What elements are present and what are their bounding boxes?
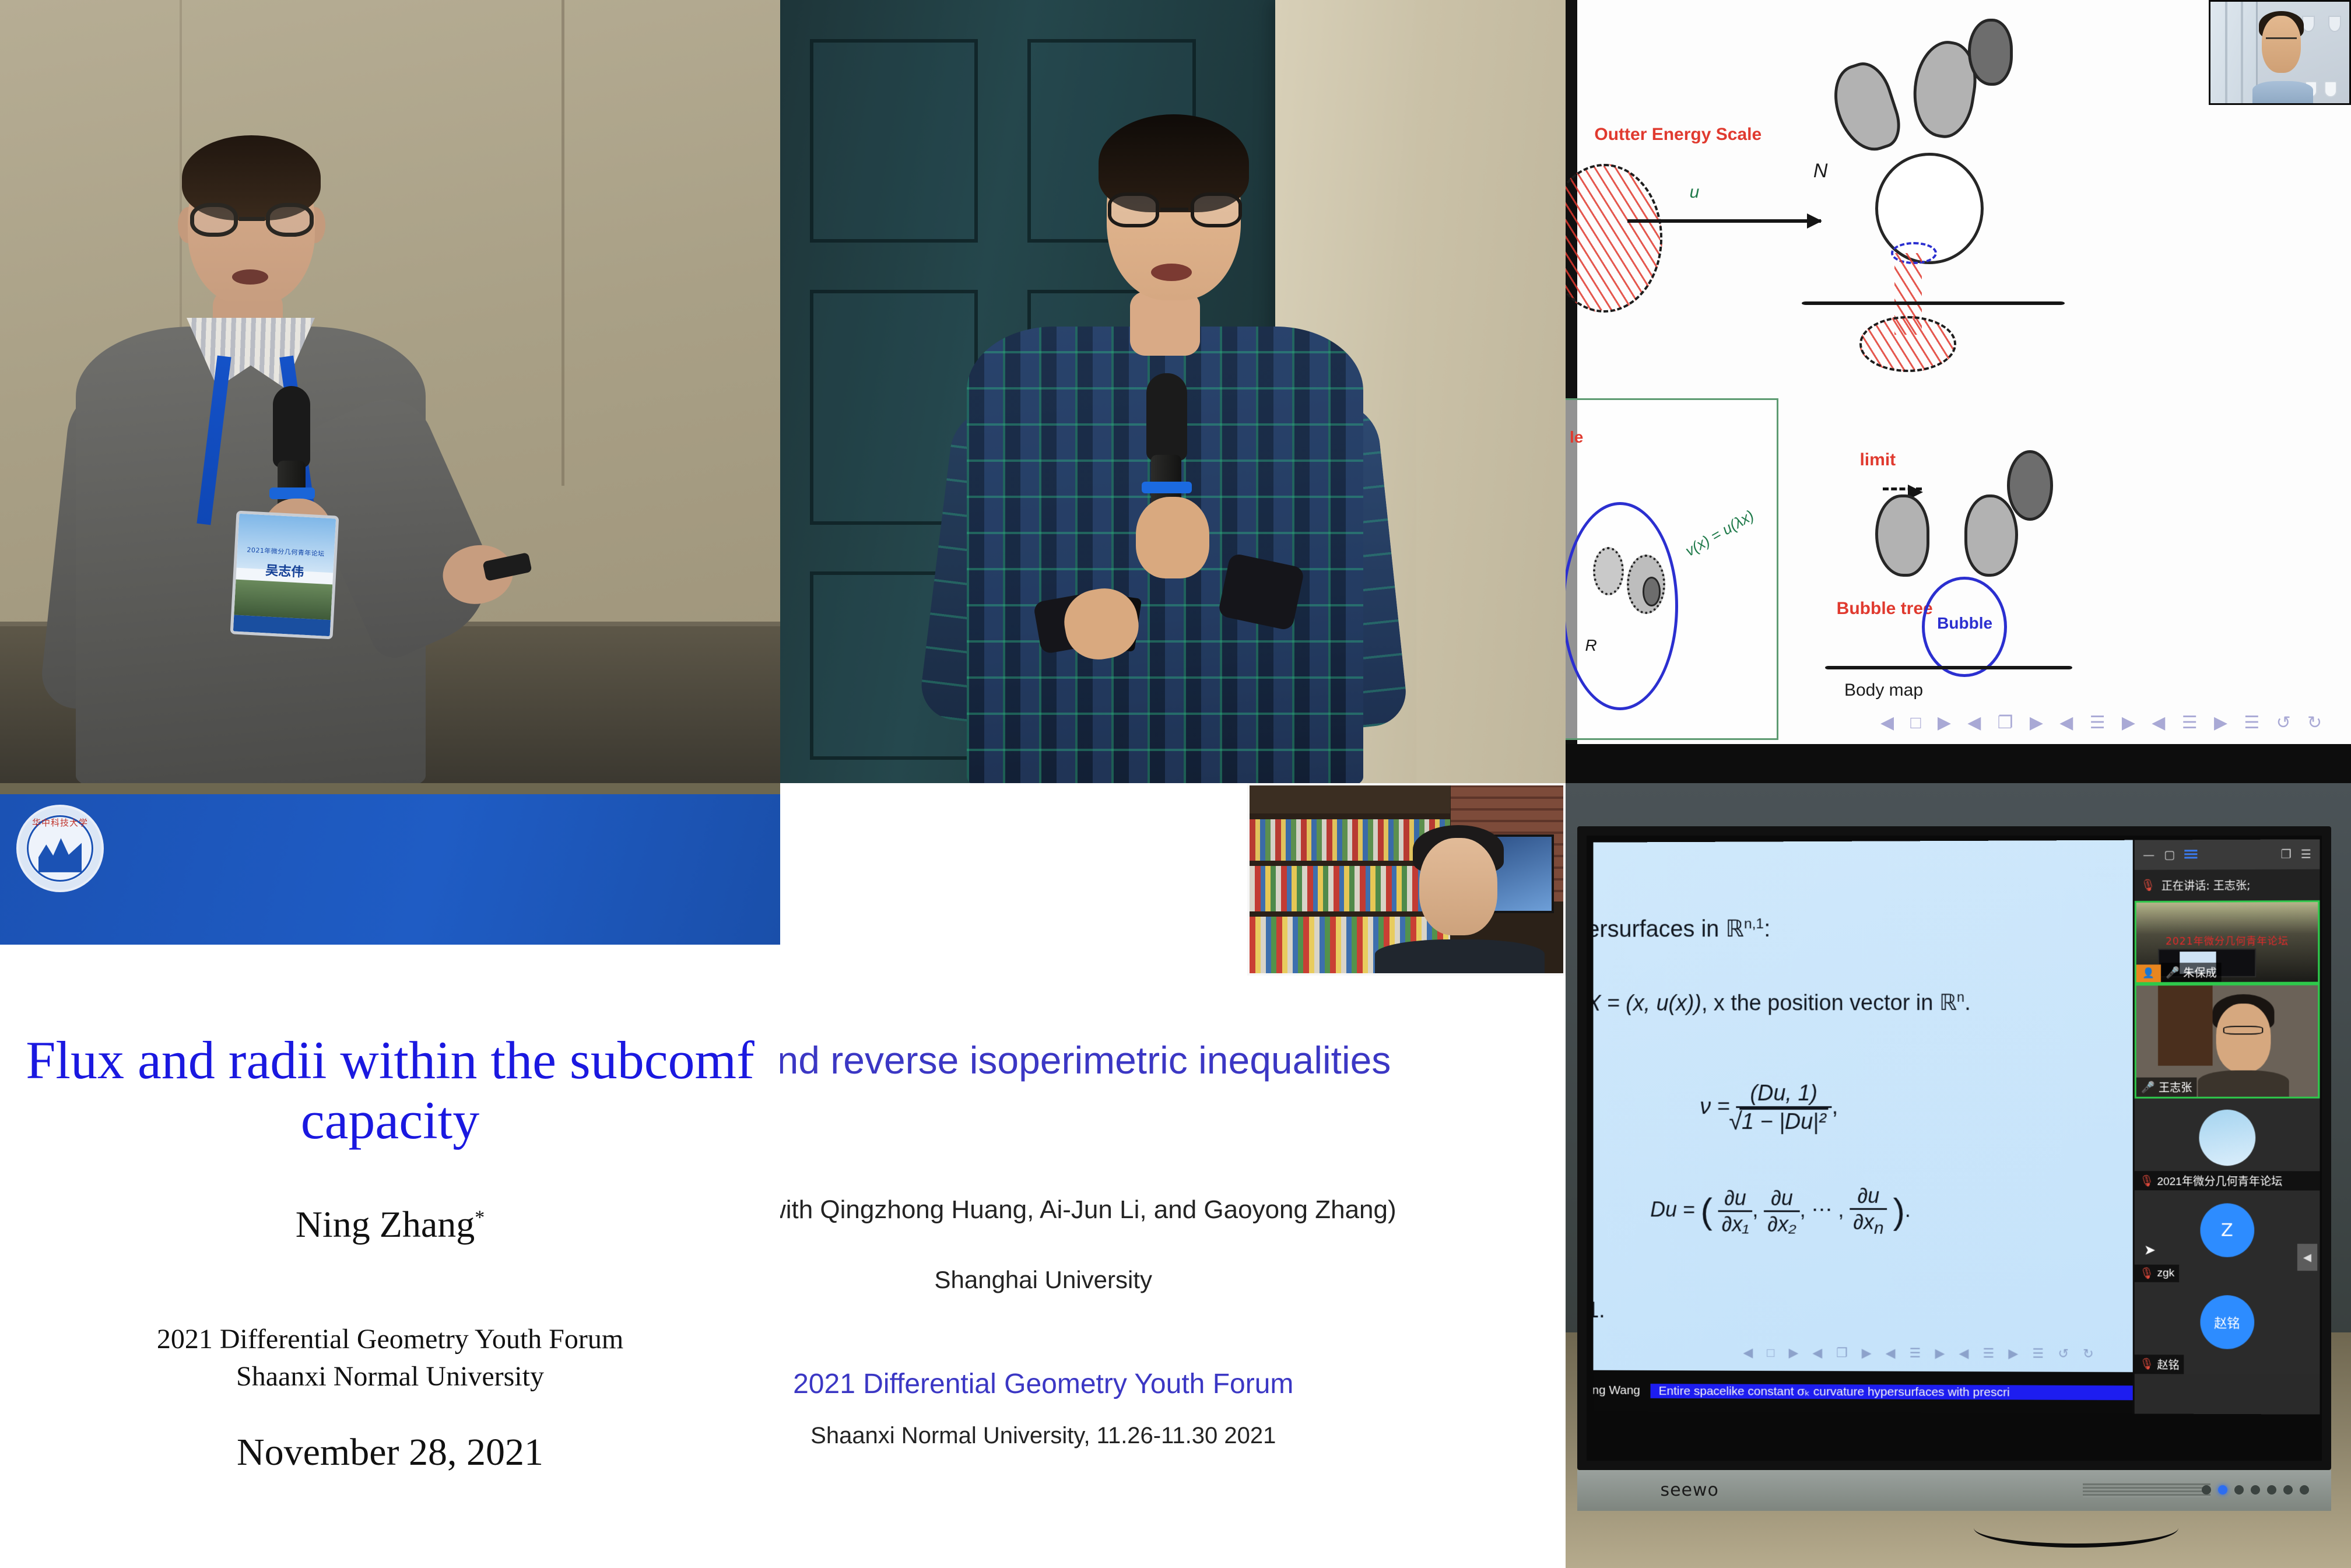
- beamer-line2-superscript: n: [1957, 990, 1964, 1005]
- slide-canvas: Outter Energy Scale u N limit Bubble tre…: [1577, 0, 2351, 744]
- zoom-tile-name: 🎙 zgk: [2135, 1264, 2179, 1282]
- limit-arrow: [1883, 487, 1921, 490]
- beamer-line2-period: .: [1964, 990, 1971, 1015]
- gallery-view-icon[interactable]: [2184, 850, 2197, 859]
- formula-nu-numerator: (Du, 1): [1736, 1081, 1832, 1106]
- scale-label: le: [1570, 428, 1583, 447]
- microphone-icon: 🎤: [2141, 1081, 2155, 1094]
- collapse-sidebar-button[interactable]: ◀: [2297, 1244, 2317, 1271]
- zoom-tile-initial-zgk[interactable]: ➤ Z 🎙 zgk ◀: [2135, 1190, 2320, 1282]
- beamer-footer-title: Entire spacelike constant σₖ curvature h…: [1651, 1383, 2137, 1399]
- display-cable: [1974, 1509, 2178, 1548]
- maximize-icon[interactable]: ▢: [2164, 847, 2175, 861]
- zoom-tile-name: 🎤 王志张: [2136, 1077, 2196, 1096]
- wall-seam: [562, 0, 564, 486]
- formula-normal-vector: ν = (Du, 1) 1 − |Du|² ,: [1700, 1081, 1838, 1135]
- beamer-slide: ic hypersurfaces in ℝn,1: vector X = (x,…: [1593, 840, 2136, 1413]
- avatar: [2199, 1109, 2255, 1165]
- screen-top-edge: [0, 783, 780, 794]
- muted-microphone-icon: 🎙: [2141, 878, 2156, 892]
- zoom-tile-name: 🎤 朱保成: [2161, 963, 2221, 982]
- slide-title-line2: capacity: [301, 1090, 479, 1150]
- slide-venue-forum: 2021 Differential Geometry Youth Forum: [157, 1324, 623, 1355]
- slide-title: ids and reverse isoperimetric inequaliti…: [780, 1038, 1566, 1082]
- avatar-initial: 赵铭: [2200, 1295, 2254, 1349]
- photo-seewo-display-with-zoom: ic hypersurfaces in ℝn,1: vector X = (x,…: [1566, 783, 2351, 1568]
- conference-badge: 2021年微分几何青年论坛 吴志伟 中山大学: [230, 511, 339, 640]
- inner-scale-disc: [1593, 547, 1624, 595]
- display-control-buttons[interactable]: [2202, 1485, 2309, 1495]
- photo-speaker-dark-door: [780, 0, 1566, 783]
- slide-venue: 2021 Differential Geometry Youth Forum S…: [0, 1321, 780, 1396]
- beamer-footer-author: Zhizhang Wang: [1593, 1383, 1650, 1398]
- zoom-tile-hall-banner: 2021年微分几何青年论坛: [2136, 932, 2318, 947]
- body-map-label: Body map: [1844, 680, 1923, 700]
- formula-nu-lhs: ν =: [1700, 1095, 1729, 1119]
- zoom-tile-lecture-hall[interactable]: 2021年微分几何青年论坛 👤 🎤 朱保成: [2135, 900, 2320, 984]
- slide-forum-venue-dates: Shaanxi Normal University, 11.26-11.30 2…: [780, 1423, 1566, 1449]
- menu-icon[interactable]: ☰: [2301, 847, 2311, 861]
- speaker-neck: [1130, 292, 1200, 356]
- formula-inner-product: , ν⟩ = −1.: [1593, 1297, 1605, 1323]
- slide-flux-and-radii-title: 华中科技大学 Flux and radii within the subcomf…: [0, 783, 780, 1568]
- slide-banner: 华中科技大学: [0, 794, 780, 945]
- target-N-label: N: [1813, 160, 1828, 183]
- body-map-curve: [1825, 666, 2073, 669]
- map-u-label: u: [1690, 183, 1700, 202]
- zoom-participant-name: 赵铭: [2157, 1356, 2179, 1372]
- speaker-mouth: [232, 269, 268, 285]
- radius-label: R: [1585, 636, 1596, 655]
- outer-energy-scale-label: Outter Energy Scale: [1594, 125, 1762, 145]
- bubble-blob: [1964, 494, 2019, 576]
- outer-energy-region: [1566, 164, 1662, 313]
- beamer-nav-icons[interactable]: ◀ □ ▶ ◀ ❐ ▶ ◀ ☰ ▶ ◀ ☰ ▶ ☰ ↺ ↻: [1880, 713, 2328, 733]
- slide-author: Ning Zhang*: [0, 1203, 780, 1246]
- slide-date: November 28, 2021: [0, 1430, 780, 1475]
- formula-du-lhs: Du =: [1650, 1197, 1694, 1221]
- zoom-participants-sidebar[interactable]: — ▢ ❐ ☰ 🎙 正在讲话: 王志张; 2021年微分几何青年论坛: [2133, 839, 2320, 1414]
- body-map-curve: [1802, 301, 2065, 305]
- microphone-head: [273, 386, 310, 468]
- zoom-participant-name: 朱保成: [2183, 964, 2216, 980]
- slide-venue-university: Shaanxi Normal University: [236, 1361, 544, 1392]
- screen-bottom-edge: [1566, 744, 2351, 783]
- zoom-participant-name: 2021年微分几何青年论坛: [2157, 1173, 2282, 1188]
- beamer-text-line-1: ic hypersurfaces in ℝn,1:: [1593, 915, 1770, 943]
- muted-microphone-icon: 🎙: [2139, 1173, 2153, 1187]
- domain-ellipse: [1566, 502, 1678, 710]
- display-screen: ic hypersurfaces in ℝn,1: vector X = (x,…: [1593, 839, 2320, 1414]
- speaker-glasses: [1104, 192, 1245, 230]
- wall-pillar: [1416, 0, 1566, 783]
- zoom-active-speaker-badge: 👤: [2136, 964, 2161, 982]
- bubble-blob-dark: [2007, 450, 2054, 521]
- seewo-bezel-bottom: seewo: [1577, 1470, 2331, 1511]
- muted-microphone-icon: 🎙: [2139, 1357, 2153, 1371]
- muted-microphone-icon: 🎙: [2139, 1266, 2153, 1280]
- mouse-cursor-icon: ➤: [2144, 1241, 2156, 1258]
- slide-title: Flux and radii within the subcomf capaci…: [0, 1030, 780, 1150]
- zoom-active-speaker-bar: 🎙 正在讲话: 王志张;: [2135, 869, 2320, 900]
- speaker-glasses: [185, 203, 318, 239]
- bubble-blob: [1875, 494, 1929, 576]
- zoom-tile-active-speaker[interactable]: 🎤 王志张: [2135, 983, 2320, 1098]
- slide-organization: Shanghai University: [780, 1266, 1566, 1294]
- seewo-interactive-display: ic hypersurfaces in ℝn,1: vector X = (x,…: [1577, 826, 2331, 1470]
- slide-author-name: Ning Zhang: [296, 1204, 475, 1245]
- hust-university-logo-icon: 华中科技大学: [16, 805, 104, 892]
- hust-logo-chinese-text: 华中科技大学: [19, 816, 101, 829]
- beamer-line2-suffix: , x the position vector in ℝ: [1701, 991, 1957, 1016]
- microphone-icon: 🎤: [2166, 966, 2180, 979]
- shared-screen-bubble-tree-slide: Outter Energy Scale u N limit Bubble tre…: [1566, 0, 2351, 783]
- author-footnote-marker: *: [475, 1207, 485, 1229]
- photo-collage: 2021年微分几何青年论坛 吴志伟 中山大学: [0, 0, 2351, 1568]
- beamer-footer: Zhizhang Wang Entire spacelike constant …: [1593, 1370, 2136, 1413]
- slide-reverse-isoperimetric-title: ids and reverse isoperimetric inequaliti…: [780, 783, 1566, 1568]
- beamer-line1-colon: :: [1764, 916, 1770, 942]
- limit-label: limit: [1859, 450, 1896, 470]
- popout-icon[interactable]: ❐: [2280, 847, 2291, 861]
- speaker-mouth: [1151, 264, 1192, 281]
- zoom-tile-name: 🎙 2021年微分几何青年论坛: [2135, 1171, 2320, 1190]
- formula-nu-denominator: 1 − |Du|²: [1739, 1107, 1829, 1134]
- microphone-blue-ring: [1142, 482, 1192, 493]
- avatar-initial: Z: [2200, 1203, 2254, 1257]
- slide-title-line1: Flux and radii within the subcomf: [26, 1030, 755, 1090]
- minimize-icon[interactable]: —: [2143, 848, 2155, 862]
- beamer-line1-superscript: n,1: [1744, 916, 1764, 932]
- seewo-brand-logo: seewo: [1660, 1480, 1718, 1500]
- webcam-thumbnail-bookshelf[interactable]: [1247, 783, 1566, 976]
- zoom-tile-name: 🎙 赵铭: [2135, 1355, 2184, 1374]
- slide-forum-name: 2021 Differential Geometry Youth Forum: [780, 1368, 1566, 1400]
- zoom-speaking-label: 正在讲话: 王志张;: [2161, 877, 2250, 893]
- bubble-tree-label: Bubble tree: [1837, 599, 1933, 619]
- zoom-window-titlebar[interactable]: — ▢ ❐ ☰: [2135, 839, 2320, 869]
- webcam-thumbnail-presenter[interactable]: [2209, 0, 2351, 105]
- beamer-nav-icons[interactable]: ◀ □ ▶ ◀ ❐ ▶ ◀ ☰ ▶ ◀ ☰ ▶ ☰ ↺ ↻: [1743, 1345, 2099, 1362]
- bubble-blob: [1824, 57, 1907, 159]
- formula-gradient: Du = ( ∂u∂x₁, ∂u∂x₂, ⋯ , ∂u∂xn ).: [1650, 1183, 1911, 1239]
- formula-nu-comma: ,: [1831, 1095, 1838, 1119]
- zoom-tile-initial-zhaoming[interactable]: 赵铭 🎙 赵铭: [2135, 1282, 2320, 1374]
- zoom-participant-name: 王志张: [2159, 1079, 2192, 1095]
- beamer-text-line-2: vector X = (x, u(x)), x the position vec…: [1593, 989, 1970, 1016]
- beamer-line1-text: ic hypersurfaces in ℝ: [1593, 916, 1743, 942]
- zoom-tile-avatar[interactable]: 🎙 2021年微分几何青年论坛: [2135, 1099, 2320, 1191]
- microphone-blue-ring: [269, 487, 315, 499]
- base-hatch-disc: [1859, 316, 1956, 372]
- beamer-line2-position-vector: X = (x, u(x)): [1593, 991, 1701, 1015]
- bubble-label: Bubble: [1937, 614, 1992, 633]
- microphone-head: [1146, 373, 1187, 461]
- photo-speaker-lecture-hall: 2021年微分几何青年论坛 吴志伟 中山大学: [0, 0, 780, 783]
- speaker-grille: [2083, 1483, 2211, 1497]
- zoom-participant-name: zgk: [2157, 1267, 2174, 1279]
- slide-joint-work: ointed with Qingzhong Huang, Ai-Jun Li, …: [780, 1195, 1566, 1225]
- inner-scale-disc-dark: [1643, 577, 1661, 606]
- bubble-blob-dark: [1968, 19, 2013, 86]
- map-arrow: [1627, 219, 1821, 223]
- speaker-right-hand: [1136, 497, 1209, 578]
